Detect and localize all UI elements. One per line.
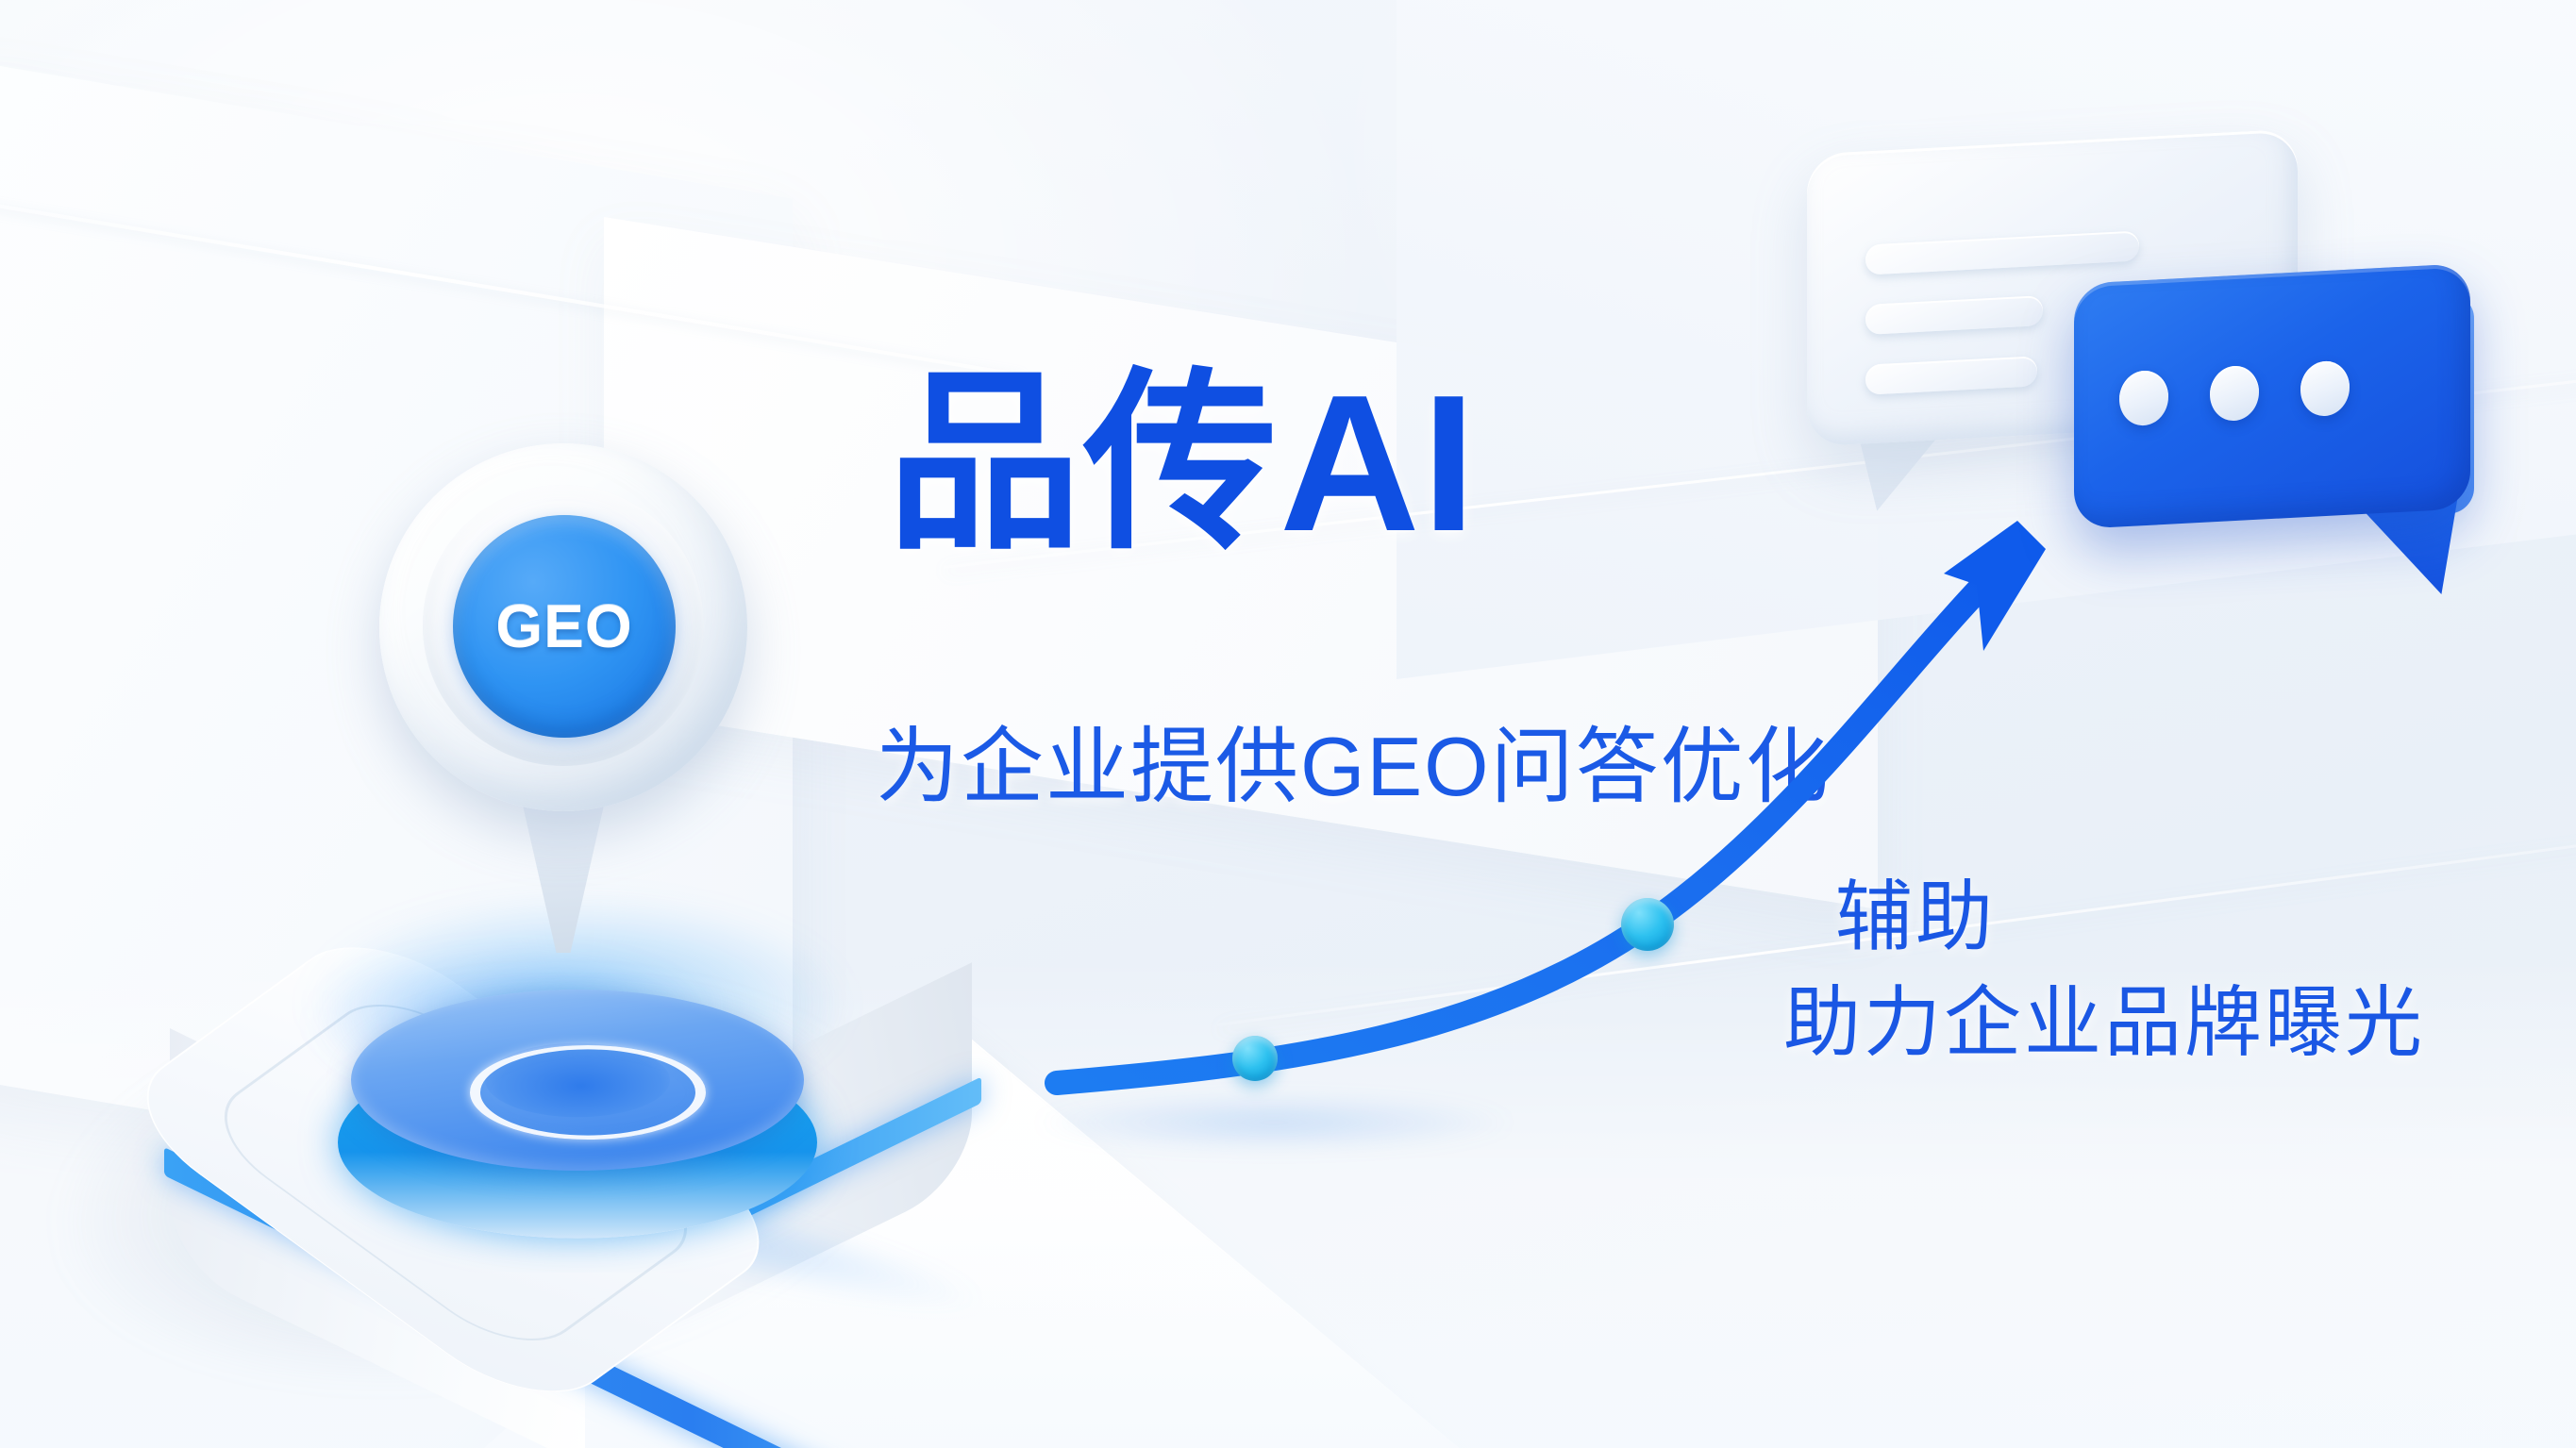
pin-label: GEO [453,515,676,738]
curve-data-point [1232,1036,1278,1081]
typing-dot [2119,370,2168,427]
side-copy-line-2: 助力企业品牌曝光 [1783,959,2425,1072]
hero-banner: GEO 品传AI 为企业提供GEO问答优化 辅助 助力企业品牌 [0,0,2576,1448]
typing-dot [2300,360,2350,418]
side-copy-block: 辅助 助力企业品牌曝光 [1835,854,1996,966]
location-pin-icon: GEO [379,443,747,934]
side-copy-line-1: 辅助 [1835,854,1996,966]
typing-dot [2210,365,2259,423]
curve-data-point [1621,898,1674,951]
wall-edge-line [0,198,1024,377]
disc-ring [470,1045,706,1140]
